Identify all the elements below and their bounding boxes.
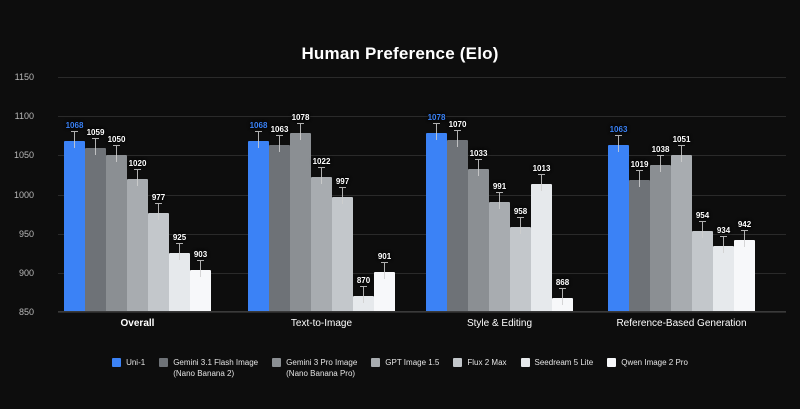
legend-swatch-icon	[371, 358, 380, 367]
bar-rect[interactable]	[127, 179, 148, 312]
legend-swatch-icon	[272, 358, 281, 367]
legend-swatch-icon	[453, 358, 462, 367]
bar-rect[interactable]	[692, 231, 713, 312]
bar-value-label: 870	[357, 276, 370, 285]
bar-rect[interactable]	[85, 148, 106, 312]
bar-rect[interactable]	[608, 145, 629, 312]
error-bar	[74, 132, 75, 148]
error-bar-cap-top	[538, 174, 545, 175]
error-bar-cap-top	[339, 187, 346, 188]
bar-value-label: 1078	[292, 113, 310, 122]
error-bar-cap-top	[155, 203, 162, 204]
error-bar	[384, 263, 385, 279]
y-axis-tick-label: 1100	[0, 111, 34, 121]
bar-value-label: 901	[378, 252, 391, 261]
error-bar	[618, 136, 619, 152]
bar[interactable]: 870	[353, 77, 374, 312]
error-bar	[179, 244, 180, 260]
bar[interactable]: 1019	[629, 77, 650, 312]
bar[interactable]: 1013	[531, 77, 552, 312]
bar[interactable]: 925	[169, 77, 190, 312]
legend-label: Gemini 3.1 Flash Image (Nano Banana 2)	[173, 357, 258, 379]
bar[interactable]: 958	[510, 77, 531, 312]
error-bar-cap-top	[92, 138, 99, 139]
bar-value-label: 1063	[610, 125, 628, 134]
error-bar-cap-top	[678, 145, 685, 146]
error-bar	[436, 124, 437, 140]
legend-item[interactable]: Gemini 3.1 Flash Image (Nano Banana 2)	[159, 357, 258, 379]
error-bar-cap-top	[433, 123, 440, 124]
error-bar	[158, 204, 159, 220]
x-axis-category-label: Reference-Based Generation	[608, 318, 755, 329]
x-axis-category-label: Text-to-Image	[248, 318, 395, 329]
error-bar-cap-top	[255, 131, 262, 132]
error-bar-cap-top	[559, 288, 566, 289]
chart-legend: Uni-1Gemini 3.1 Flash Image (Nano Banana…	[0, 357, 800, 379]
bar-value-label: 1051	[673, 135, 691, 144]
bar[interactable]: 1050	[106, 77, 127, 312]
error-bar-cap-top	[615, 135, 622, 136]
bar-rect[interactable]	[290, 133, 311, 312]
bar-rect[interactable]	[311, 177, 332, 312]
error-bar-cap-top	[197, 260, 204, 261]
error-bar	[744, 231, 745, 247]
bar-value-label: 954	[696, 211, 709, 220]
bar-value-label: 1013	[533, 164, 551, 173]
bar-rect[interactable]	[64, 141, 85, 312]
legend-label: GPT Image 1.5	[385, 357, 439, 368]
error-bar	[300, 124, 301, 140]
bar-value-label: 903	[194, 250, 207, 259]
bar-value-label: 1038	[652, 145, 670, 154]
bar[interactable]: 1070	[447, 77, 468, 312]
legend-swatch-icon	[521, 358, 530, 367]
bar-value-label: 1019	[631, 160, 649, 169]
bar-value-label: 1070	[449, 120, 467, 129]
error-bar	[321, 168, 322, 184]
bar-rect[interactable]	[447, 140, 468, 312]
legend-swatch-icon	[112, 358, 121, 367]
bar[interactable]: 1033	[468, 77, 489, 312]
plot-area: 8509009501000105011001150 10681059105010…	[58, 77, 786, 312]
legend-item[interactable]: Seedream 5 Lite	[521, 357, 594, 368]
bar-value-label: 1063	[271, 125, 289, 134]
y-axis-tick-label: 1000	[0, 190, 34, 200]
legend-label: Gemini 3 Pro Image (Nano Banana Pro)	[286, 357, 357, 379]
bar-group: 1063101910381051954934942	[608, 77, 755, 312]
bar[interactable]: 901	[374, 77, 395, 312]
error-bar-cap-top	[360, 286, 367, 287]
legend-item[interactable]: Uni-1	[112, 357, 145, 368]
bar-value-label: 934	[717, 226, 730, 235]
chart-root: Human Preference (Elo) 85090095010001050…	[0, 0, 800, 409]
error-bar	[95, 139, 96, 155]
error-bar	[723, 237, 724, 253]
bar-rect[interactable]	[734, 240, 755, 312]
error-bar-cap-top	[699, 221, 706, 222]
bar[interactable]: 1068	[248, 77, 269, 312]
bar-rect[interactable]	[671, 155, 692, 312]
bar-rect[interactable]	[510, 227, 531, 312]
bar-rect[interactable]	[248, 141, 269, 312]
error-bar	[200, 261, 201, 277]
bar-value-label: 997	[336, 177, 349, 186]
bar-value-label: 868	[556, 278, 569, 287]
bar[interactable]: 977	[148, 77, 169, 312]
bar-rect[interactable]	[269, 145, 290, 312]
bar-value-label: 1050	[108, 135, 126, 144]
legend-label: Uni-1	[126, 357, 145, 368]
bar[interactable]: 954	[692, 77, 713, 312]
gridline	[58, 312, 786, 313]
legend-label: Seedream 5 Lite	[535, 357, 594, 368]
bar-value-label: 1078	[428, 113, 446, 122]
bar-rect[interactable]	[468, 169, 489, 312]
y-axis-tick-label: 1050	[0, 150, 34, 160]
bar-rect[interactable]	[169, 253, 190, 312]
bar-value-label: 977	[152, 193, 165, 202]
bar[interactable]: 1063	[269, 77, 290, 312]
error-bar	[363, 287, 364, 303]
error-bar	[116, 146, 117, 162]
error-bar-cap-top	[134, 169, 141, 170]
bar[interactable]: 991	[489, 77, 510, 312]
bar[interactable]: 1063	[608, 77, 629, 312]
bar[interactable]: 942	[734, 77, 755, 312]
error-bar	[660, 156, 661, 172]
bar-rect[interactable]	[332, 197, 353, 312]
error-bar	[478, 160, 479, 176]
bar[interactable]: 1078	[426, 77, 447, 312]
legend-item[interactable]: Qwen Image 2 Pro	[607, 357, 688, 368]
legend-item[interactable]: GPT Image 1.5	[371, 357, 439, 368]
bar-rect[interactable]	[489, 202, 510, 312]
error-bar-cap-top	[276, 135, 283, 136]
bar-rect[interactable]	[531, 184, 552, 312]
bar-value-label: 1068	[250, 121, 268, 130]
bar-value-label: 1033	[470, 149, 488, 158]
bar[interactable]: 1038	[650, 77, 671, 312]
bar[interactable]: 1059	[85, 77, 106, 312]
bar-rect[interactable]	[426, 133, 447, 312]
error-bar-cap-top	[720, 236, 727, 237]
x-axis-line	[58, 311, 786, 312]
bar-group: 1068105910501020977925903	[64, 77, 211, 312]
bar-value-label: 1022	[313, 157, 331, 166]
legend-label: Flux 2 Max	[467, 357, 506, 368]
error-bar	[499, 193, 500, 209]
error-bar	[541, 175, 542, 191]
legend-swatch-icon	[607, 358, 616, 367]
y-axis-tick-label: 900	[0, 268, 34, 278]
bar[interactable]: 903	[190, 77, 211, 312]
error-bar	[279, 136, 280, 152]
bar[interactable]: 997	[332, 77, 353, 312]
error-bar	[681, 146, 682, 162]
bar-rect[interactable]	[106, 155, 127, 312]
bar-rect[interactable]	[650, 165, 671, 312]
legend-item[interactable]: Gemini 3 Pro Image (Nano Banana Pro)	[272, 357, 357, 379]
bar-value-label: 1068	[66, 121, 84, 130]
bar[interactable]: 1051	[671, 77, 692, 312]
error-bar-cap-top	[741, 230, 748, 231]
y-axis-tick-label: 850	[0, 307, 34, 317]
error-bar-cap-top	[636, 170, 643, 171]
bar-group: 1078107010339919581013868	[426, 77, 573, 312]
bar-rect[interactable]	[148, 213, 169, 312]
error-bar	[702, 222, 703, 238]
error-bar-cap-top	[176, 243, 183, 244]
error-bar-cap-top	[318, 167, 325, 168]
x-axis-category-label: Overall	[64, 318, 211, 329]
error-bar-cap-top	[475, 159, 482, 160]
error-bar-cap-top	[517, 217, 524, 218]
bar[interactable]: 1022	[311, 77, 332, 312]
error-bar	[520, 218, 521, 234]
error-bar-cap-top	[71, 131, 78, 132]
bar-rect[interactable]	[713, 246, 734, 312]
bar-rect[interactable]	[629, 180, 650, 312]
bar-value-label: 958	[514, 207, 527, 216]
bar[interactable]: 1068	[64, 77, 85, 312]
bar[interactable]: 1020	[127, 77, 148, 312]
y-axis-tick-label: 950	[0, 229, 34, 239]
error-bar	[258, 132, 259, 148]
error-bar-cap-top	[297, 123, 304, 124]
bar-value-label: 942	[738, 220, 751, 229]
chart-title: Human Preference (Elo)	[0, 44, 800, 64]
bar-value-label: 991	[493, 182, 506, 191]
error-bar	[342, 188, 343, 204]
legend-item[interactable]: Flux 2 Max	[453, 357, 506, 368]
bar[interactable]: 1078	[290, 77, 311, 312]
bar[interactable]: 934	[713, 77, 734, 312]
error-bar-cap-top	[381, 262, 388, 263]
error-bar-cap-top	[657, 155, 664, 156]
legend-label: Qwen Image 2 Pro	[621, 357, 688, 368]
bar-value-label: 1059	[87, 128, 105, 137]
error-bar-cap-top	[496, 192, 503, 193]
bar-value-label: 1020	[129, 159, 147, 168]
x-axis-category-label: Style & Editing	[426, 318, 573, 329]
bar-value-label: 925	[173, 233, 186, 242]
error-bar	[562, 289, 563, 305]
bar-group: 1068106310781022997870901	[248, 77, 395, 312]
bar[interactable]: 868	[552, 77, 573, 312]
y-axis-tick-label: 1150	[0, 72, 34, 82]
legend-swatch-icon	[159, 358, 168, 367]
error-bar-cap-top	[113, 145, 120, 146]
error-bar-cap-top	[454, 130, 461, 131]
error-bar	[137, 170, 138, 186]
error-bar	[457, 131, 458, 147]
error-bar	[639, 171, 640, 187]
